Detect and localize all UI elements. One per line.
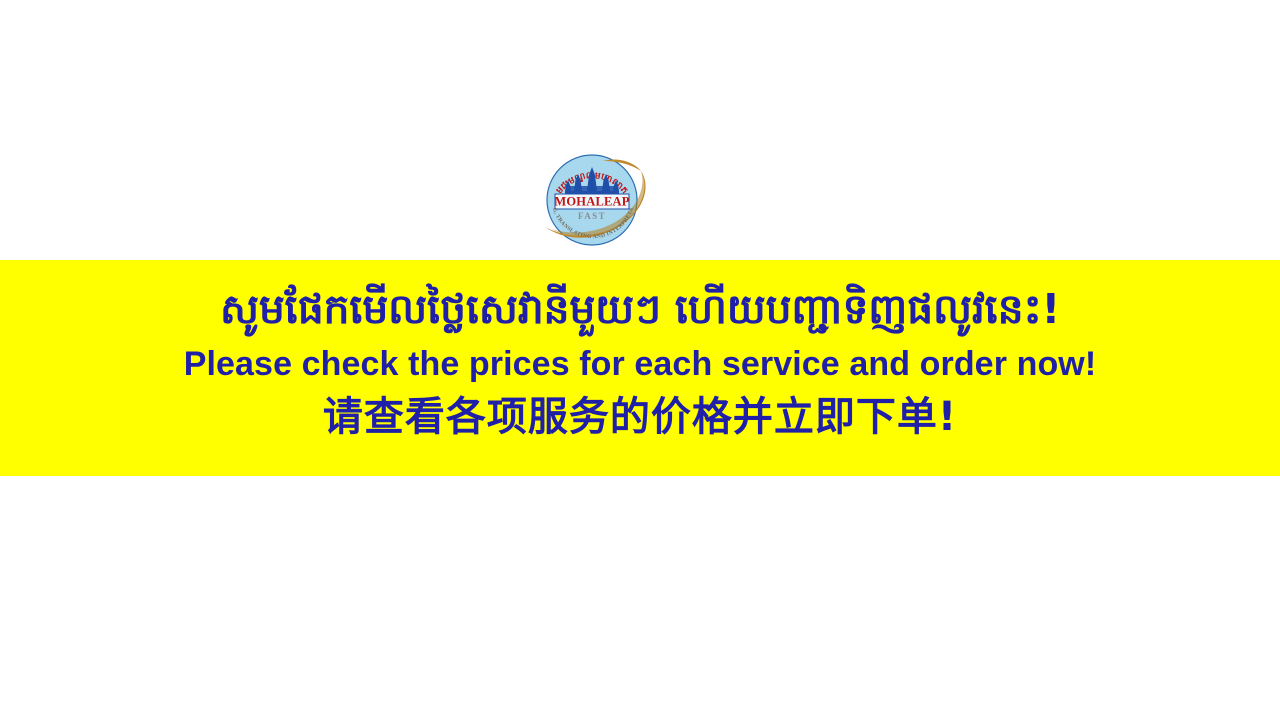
promo-banner: សូមផែកមើលថ្លៃសេវានីមួយៗ ហើយបញ្ជាទិញផលូវន… (0, 260, 1280, 476)
mohaleap-fast-logo: មជ្ឈមណ្ឌលមហាលាភ (537, 141, 655, 259)
logo-graphic: មជ្ឈមណ្ឌលមហាលាភ (537, 141, 655, 259)
banner-line-khmer: សូមផែកមើលថ្លៃសេវានីមួយៗ ហើយបញ្ជាទិញផលូវន… (0, 278, 1280, 340)
logo-brand-name: MOHALEAP (554, 195, 629, 209)
banner-line-chinese: 请查看各项服务的价格并立即下单! (0, 390, 1280, 444)
banner-line-english: Please check the prices for each service… (0, 342, 1280, 386)
logo-tagline: FAST (578, 211, 606, 221)
slide-canvas: មជ្ឈមណ្ឌលមហាលាភ (0, 0, 1280, 720)
